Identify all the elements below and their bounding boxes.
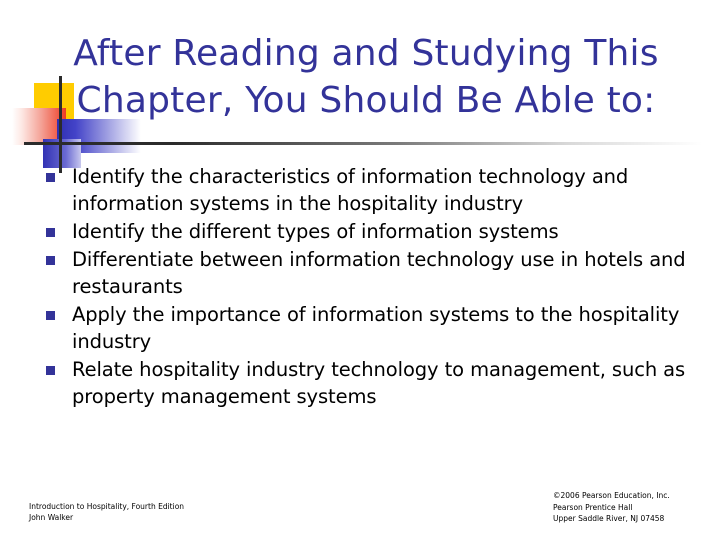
slide-bullet-list: Identify the characteristics of informat…	[46, 163, 696, 411]
list-item-label: Relate hospitality industry technology t…	[72, 356, 696, 410]
list-item-label: Identify the different types of informat…	[72, 218, 696, 245]
footer-address: Upper Saddle River, NJ 07458	[553, 513, 670, 525]
footer-source-credit: Introduction to Hospitality, Fourth Edit…	[29, 502, 184, 523]
list-item: Apply the importance of information syst…	[46, 301, 696, 355]
slide-canvas: After Reading and Studying This Chapter,…	[0, 0, 720, 540]
square-bullet-icon	[46, 311, 55, 320]
square-bullet-icon	[46, 173, 55, 182]
list-item-label: Differentiate between information techno…	[72, 246, 696, 300]
list-item: Differentiate between information techno…	[46, 246, 696, 300]
list-item: Identify the characteristics of informat…	[46, 163, 696, 217]
horizontal-rule-icon	[24, 142, 702, 145]
square-bullet-icon	[46, 228, 55, 237]
list-item-label: Apply the importance of information syst…	[72, 301, 696, 355]
footer-copyright: ©2006 Pearson Education, Inc. Pearson Pr…	[553, 490, 670, 525]
list-item: Identify the different types of informat…	[46, 218, 696, 245]
footer-copyright-line: ©2006 Pearson Education, Inc.	[553, 490, 670, 502]
slide-title-line-1: After Reading and Studying This	[36, 30, 696, 77]
list-item: Relate hospitality industry technology t…	[46, 356, 696, 410]
blue-gradient-square-icon	[57, 119, 141, 153]
footer-publisher: Pearson Prentice Hall	[553, 502, 670, 514]
footer-author: John Walker	[29, 513, 184, 524]
slide-title: After Reading and Studying This Chapter,…	[36, 30, 696, 124]
square-bullet-icon	[46, 366, 55, 375]
square-bullet-icon	[46, 256, 55, 265]
footer-book-title: Introduction to Hospitality, Fourth Edit…	[29, 502, 184, 513]
list-item-label: Identify the characteristics of informat…	[72, 163, 696, 217]
slide-title-line-2: Chapter, You Should Be Able to:	[36, 77, 696, 124]
